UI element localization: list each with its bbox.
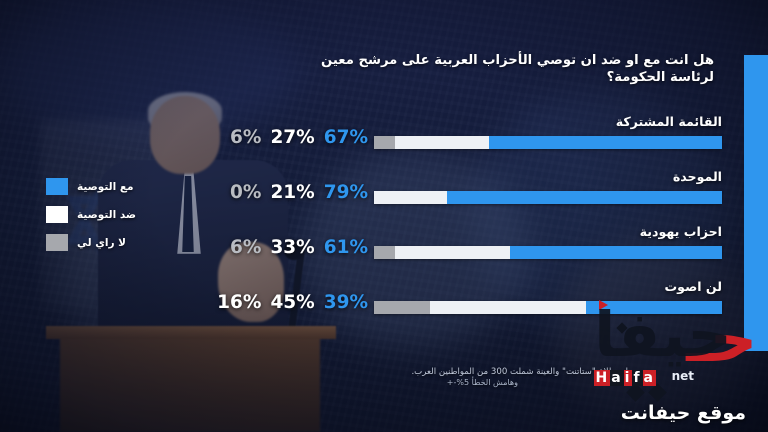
row-label: احزاب يهودية	[640, 224, 722, 239]
value-against: 21%	[270, 184, 314, 203]
row-values: 6% 27% 67%	[230, 129, 368, 148]
value-support: 67%	[324, 129, 368, 148]
stacked-bar	[374, 136, 722, 149]
row-label: القائمة المشتركة	[616, 114, 722, 129]
cursor-marker-icon	[599, 300, 608, 310]
margin-of-error-note: وهامش الخطأ 5%-+	[447, 378, 518, 387]
row-values: 16% 45% 39%	[217, 294, 368, 313]
title-line-1: هل انت مع او ضد ان توصي الأحزاب العربية …	[284, 52, 714, 69]
value-against: 27%	[270, 129, 314, 148]
row-values: 0% 21% 79%	[230, 184, 368, 203]
row-values: 6% 33% 61%	[230, 239, 368, 258]
bar-segment-against	[395, 136, 489, 149]
value-no-opinion: 16%	[217, 294, 261, 313]
row-label: لن اصوت	[665, 279, 722, 294]
value-support: 61%	[324, 239, 368, 258]
bar-segment-no-opinion	[374, 301, 430, 314]
page-title: هل انت مع او ضد ان توصي الأحزاب العربية …	[284, 52, 714, 86]
chart-row: احزاب يهودية 6% 33% 61%	[0, 220, 768, 275]
bar-segment-support	[489, 136, 722, 149]
value-support: 79%	[324, 184, 368, 203]
stacked-bar	[374, 246, 722, 259]
value-against: 45%	[270, 294, 314, 313]
infographic-canvas: هل انت مع او ضد ان توصي الأحزاب العربية …	[0, 0, 768, 432]
row-label: الموحدة	[673, 169, 722, 184]
title-line-2: لرئاسة الحكومة؟	[284, 69, 714, 86]
value-no-opinion: 6%	[230, 239, 261, 258]
value-no-opinion: 0%	[230, 184, 261, 203]
bar-segment-support	[510, 246, 722, 259]
bar-segment-against	[395, 246, 510, 259]
chart-rows: القائمة المشتركة 6% 27% 67% الموحدة 0% 2	[0, 110, 768, 330]
stacked-bar	[374, 301, 722, 314]
bar-segment-no-opinion	[374, 136, 395, 149]
chart-row: لن اصوت 16% 45% 39%	[0, 275, 768, 330]
source-footnote: استطلاع "ستاتنت" والعينة شملت 300 من الم…	[298, 366, 628, 378]
bar-segment-no-opinion	[374, 246, 395, 259]
value-against: 33%	[270, 239, 314, 258]
stacked-bar	[374, 191, 722, 204]
bar-segment-against	[430, 301, 587, 314]
value-support: 39%	[324, 294, 368, 313]
bar-segment-support	[447, 191, 722, 204]
value-no-opinion: 6%	[230, 129, 261, 148]
bar-segment-against	[374, 191, 447, 204]
chart-row: القائمة المشتركة 6% 27% 67%	[0, 110, 768, 165]
chart-row: الموحدة 0% 21% 79%	[0, 165, 768, 220]
